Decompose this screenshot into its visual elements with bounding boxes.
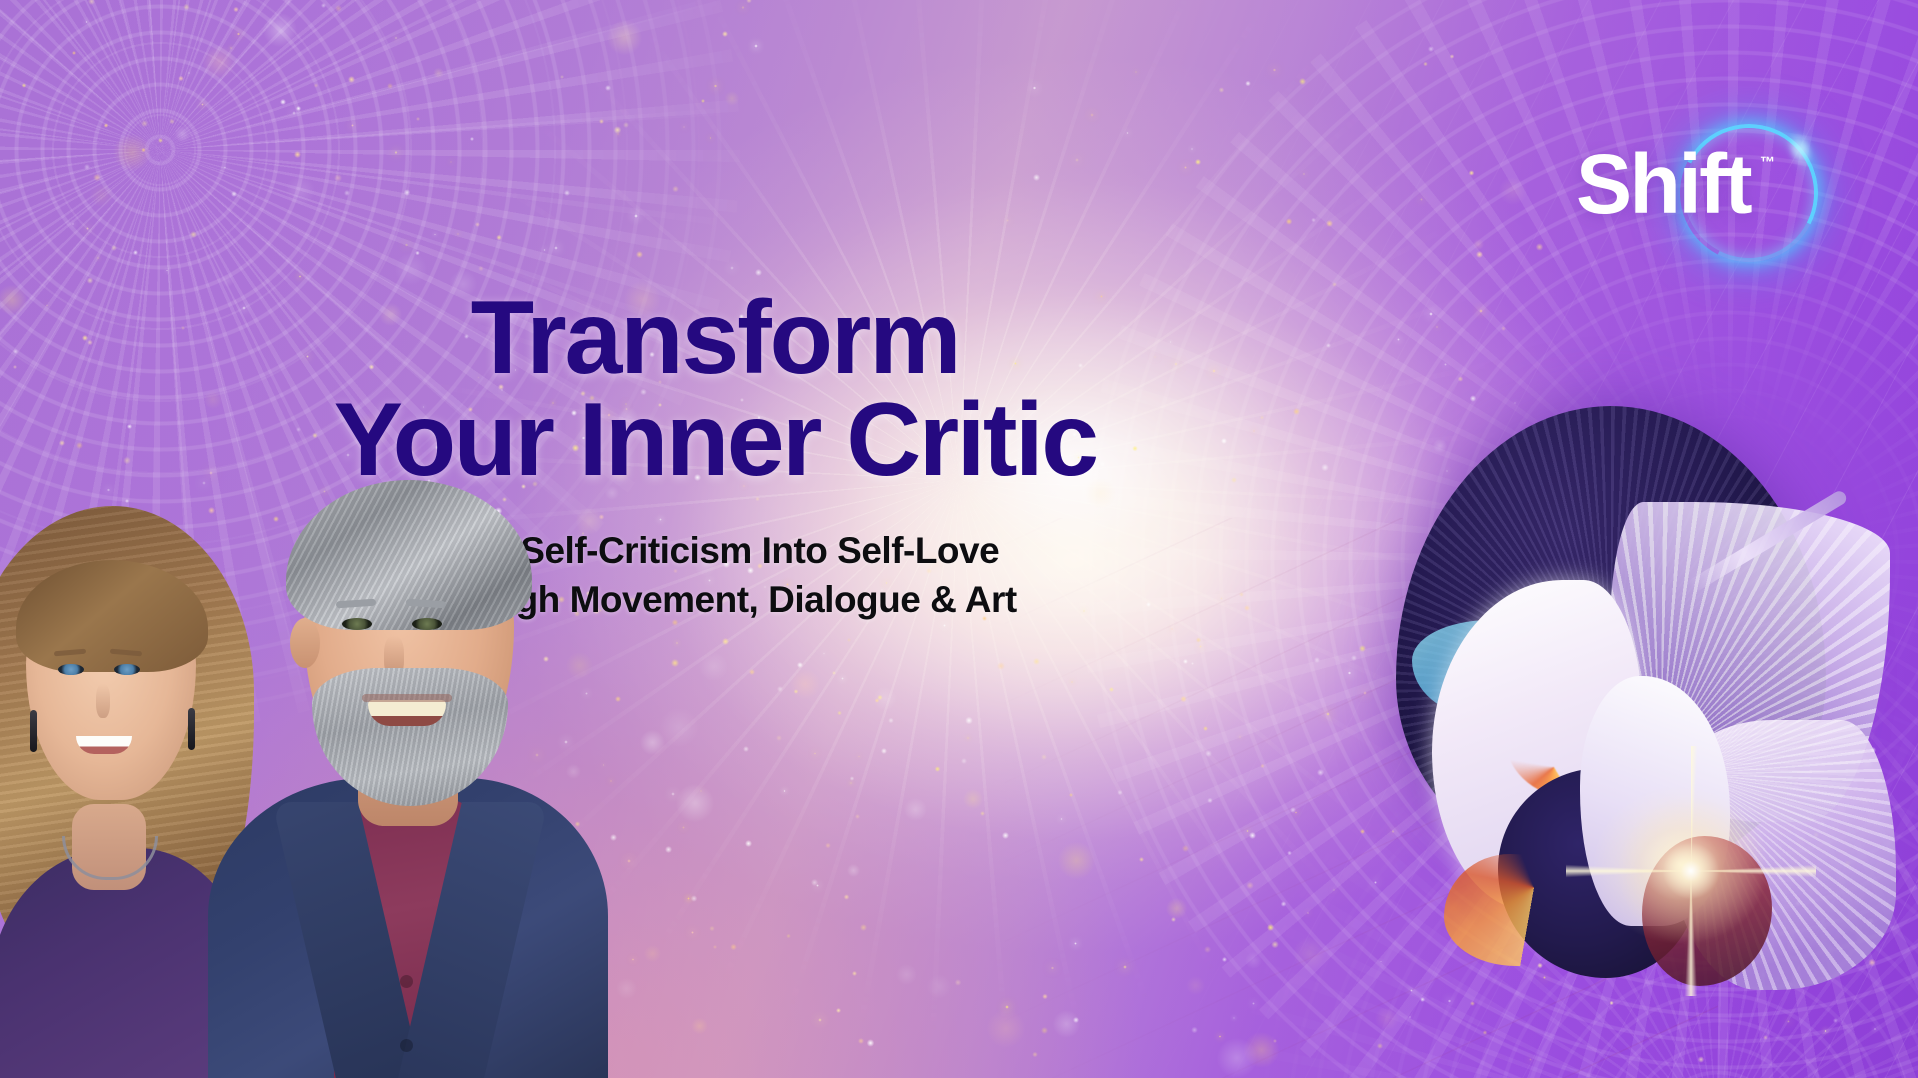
bokeh-dot bbox=[855, 814, 860, 819]
bokeh-dot bbox=[1293, 937, 1327, 971]
bokeh-dot bbox=[722, 638, 729, 645]
bokeh-dot bbox=[1182, 845, 1189, 852]
bokeh-dot bbox=[699, 652, 728, 681]
bokeh-dot bbox=[1536, 243, 1543, 250]
bokeh-dot bbox=[867, 1039, 874, 1046]
bokeh-dot bbox=[1271, 941, 1278, 948]
bokeh-dot bbox=[823, 652, 825, 654]
bokeh-dot bbox=[837, 711, 841, 715]
bokeh-dot bbox=[1444, 363, 1447, 366]
bokeh-dot bbox=[1314, 657, 1320, 663]
bokeh-dot bbox=[967, 737, 969, 739]
bokeh-dot bbox=[1117, 790, 1122, 795]
bokeh-dot bbox=[881, 748, 887, 754]
woman-nose bbox=[96, 684, 110, 718]
bokeh-dot bbox=[860, 924, 867, 931]
bokeh-dot bbox=[665, 846, 672, 853]
bokeh-dot bbox=[616, 978, 637, 999]
bokeh-dot bbox=[816, 884, 819, 887]
bokeh-dot bbox=[1499, 177, 1527, 205]
bokeh-dot bbox=[927, 974, 952, 999]
bokeh-dot bbox=[1217, 1038, 1257, 1078]
bokeh-dot bbox=[1469, 170, 1474, 175]
bokeh-dot bbox=[691, 895, 697, 901]
woman-eye-right bbox=[114, 664, 140, 675]
bokeh-dot bbox=[1069, 793, 1073, 797]
bokeh-dot bbox=[1166, 898, 1187, 919]
bokeh-dot bbox=[1307, 912, 1309, 914]
bokeh-dot bbox=[1233, 1017, 1235, 1019]
bokeh-dot bbox=[776, 735, 782, 741]
bokeh-dot bbox=[644, 945, 661, 962]
bokeh-dot bbox=[1479, 309, 1483, 313]
bokeh-dot bbox=[745, 840, 752, 847]
bokeh-dot bbox=[1450, 54, 1455, 59]
bokeh-dot bbox=[955, 979, 962, 986]
bokeh-dot bbox=[811, 879, 818, 886]
bokeh-dot bbox=[1041, 1027, 1047, 1033]
bokeh-dot bbox=[1171, 628, 1173, 630]
bokeh-dot bbox=[1317, 769, 1324, 776]
shift-logo[interactable]: Shift ™ bbox=[1576, 118, 1826, 268]
bokeh-dot bbox=[691, 1018, 707, 1034]
bokeh-dot bbox=[777, 686, 783, 692]
bokeh-dot bbox=[1042, 994, 1048, 1000]
bokeh-dot bbox=[997, 662, 1004, 669]
bokeh-dot bbox=[1281, 901, 1286, 906]
bokeh-dot bbox=[1207, 798, 1212, 803]
bokeh-dot bbox=[1458, 376, 1464, 382]
man-shirt-button-lower bbox=[400, 1039, 413, 1052]
bokeh-dot bbox=[963, 789, 983, 809]
bokeh-dot bbox=[687, 897, 689, 899]
bokeh-dot bbox=[1249, 832, 1256, 839]
bokeh-dot bbox=[1245, 952, 1262, 969]
bokeh-dot bbox=[832, 671, 836, 675]
bokeh-dot bbox=[987, 1009, 1025, 1047]
bokeh-dot bbox=[713, 945, 717, 949]
bokeh-dot bbox=[1246, 882, 1253, 889]
bokeh-dot bbox=[610, 834, 617, 841]
bokeh-dot bbox=[1239, 736, 1241, 738]
title-line-1: Transform bbox=[471, 280, 960, 396]
bokeh-dot bbox=[1051, 966, 1054, 969]
bokeh-dot bbox=[847, 864, 860, 877]
bokeh-dot bbox=[709, 926, 714, 931]
bokeh-dot bbox=[1032, 1052, 1038, 1058]
bokeh-dot bbox=[627, 859, 631, 863]
woman-earring-left bbox=[30, 710, 37, 752]
bokeh-dot bbox=[1186, 976, 1205, 995]
bokeh-dot bbox=[850, 776, 855, 781]
man-ear bbox=[290, 618, 320, 668]
man-upper-lip bbox=[362, 694, 452, 702]
bokeh-dot bbox=[1260, 764, 1264, 768]
bokeh-dot bbox=[640, 730, 665, 755]
presenter-photos bbox=[0, 418, 598, 1078]
abstract-head-artwork bbox=[1348, 384, 1888, 1044]
bokeh-dot bbox=[671, 792, 675, 796]
promotional-banner: Transform Your Inner Critic Shift Self-C… bbox=[0, 0, 1918, 1078]
bokeh-dot bbox=[1180, 696, 1186, 702]
logo-wordmark: Shift bbox=[1576, 142, 1750, 226]
bokeh-dot bbox=[783, 790, 785, 792]
bokeh-dot bbox=[700, 790, 703, 793]
bokeh-dot bbox=[1295, 811, 1297, 813]
bokeh-dot bbox=[965, 717, 972, 724]
bokeh-dot bbox=[730, 944, 737, 951]
bokeh-dot bbox=[1123, 965, 1127, 969]
bokeh-dot bbox=[858, 1038, 864, 1044]
bokeh-dot bbox=[1252, 1002, 1255, 1005]
bokeh-dot bbox=[1171, 917, 1177, 923]
bokeh-dot bbox=[877, 695, 883, 701]
bokeh-dot bbox=[873, 687, 897, 711]
bokeh-dot bbox=[814, 752, 816, 754]
bokeh-dot bbox=[1222, 957, 1227, 962]
bokeh-dot bbox=[610, 780, 612, 782]
bokeh-dot bbox=[1333, 889, 1335, 891]
bokeh-dot bbox=[904, 798, 927, 821]
bokeh-dot bbox=[749, 669, 755, 675]
bokeh-dot bbox=[1074, 942, 1077, 945]
bokeh-dot bbox=[1476, 251, 1483, 258]
bokeh-dot bbox=[1058, 842, 1096, 880]
trademark-icon: ™ bbox=[1760, 154, 1775, 171]
bokeh-dot bbox=[1326, 712, 1330, 716]
woman-eye-left bbox=[58, 664, 84, 675]
man-shirt-button-upper bbox=[400, 975, 413, 988]
bokeh-dot bbox=[1005, 1005, 1009, 1009]
bokeh-dot bbox=[961, 758, 968, 765]
bokeh-dot bbox=[1071, 681, 1073, 683]
bokeh-dot bbox=[844, 894, 849, 899]
bokeh-dot bbox=[858, 756, 860, 758]
bokeh-dot bbox=[1196, 637, 1202, 643]
bokeh-dot bbox=[676, 642, 678, 644]
bokeh-dot bbox=[743, 746, 749, 752]
bokeh-dot bbox=[1053, 1010, 1080, 1037]
bokeh-dot bbox=[1244, 1032, 1280, 1068]
man-eye-left bbox=[342, 618, 372, 630]
presenter-man bbox=[208, 418, 608, 1078]
bokeh-dot bbox=[1033, 658, 1040, 665]
bokeh-dot bbox=[1698, 1056, 1705, 1063]
bokeh-dot bbox=[790, 669, 820, 699]
bokeh-dot bbox=[818, 1018, 822, 1022]
bokeh-dot bbox=[888, 718, 894, 724]
bokeh-dot bbox=[1139, 857, 1145, 863]
bokeh-dot bbox=[671, 659, 678, 666]
bokeh-dot bbox=[1287, 851, 1292, 856]
bokeh-dot bbox=[1060, 818, 1062, 820]
bokeh-dot bbox=[836, 1008, 841, 1013]
bokeh-dot bbox=[875, 698, 880, 703]
bokeh-dot bbox=[850, 782, 852, 784]
bokeh-dot bbox=[1529, 1058, 1532, 1061]
bokeh-dot bbox=[1290, 807, 1296, 813]
bokeh-dot bbox=[980, 811, 985, 816]
bokeh-dot bbox=[1501, 326, 1506, 331]
bokeh-dot bbox=[1191, 1027, 1197, 1033]
bokeh-dot bbox=[1219, 1035, 1221, 1037]
man-hair-texture bbox=[286, 480, 532, 630]
bokeh-dot bbox=[659, 708, 698, 747]
bokeh-dot bbox=[615, 696, 621, 702]
man-smile bbox=[368, 700, 446, 726]
man-eye-right bbox=[412, 618, 442, 630]
bokeh-dot bbox=[1267, 924, 1274, 931]
bokeh-dot bbox=[1183, 659, 1188, 664]
bokeh-dot bbox=[935, 766, 941, 772]
bokeh-dot bbox=[852, 971, 857, 976]
bokeh-dot bbox=[632, 958, 635, 961]
bokeh-dot bbox=[691, 931, 694, 934]
bokeh-dot bbox=[841, 677, 844, 680]
bokeh-dot bbox=[1041, 754, 1047, 760]
bokeh-dot bbox=[1002, 832, 1009, 839]
bokeh-dot bbox=[1203, 726, 1208, 731]
bokeh-dot bbox=[1204, 946, 1211, 953]
woman-earring-right bbox=[188, 708, 195, 750]
bokeh-dot bbox=[1473, 239, 1484, 250]
bokeh-dot bbox=[794, 689, 798, 693]
bokeh-dot bbox=[786, 934, 791, 939]
bokeh-dot bbox=[1436, 326, 1438, 328]
bokeh-dot bbox=[847, 638, 851, 642]
bokeh-dot bbox=[682, 826, 685, 829]
bokeh-dot bbox=[676, 784, 714, 822]
bokeh-dot bbox=[896, 964, 917, 985]
bokeh-dot bbox=[1273, 1039, 1277, 1043]
bokeh-dot bbox=[1191, 662, 1194, 665]
bokeh-dot bbox=[1109, 687, 1114, 692]
bokeh-dot bbox=[1199, 645, 1202, 648]
bokeh-dot bbox=[1246, 830, 1249, 833]
bokeh-dot bbox=[797, 662, 803, 668]
bokeh-dot bbox=[1205, 750, 1212, 757]
bokeh-dot bbox=[825, 843, 830, 848]
bokeh-dot bbox=[1073, 1017, 1079, 1023]
